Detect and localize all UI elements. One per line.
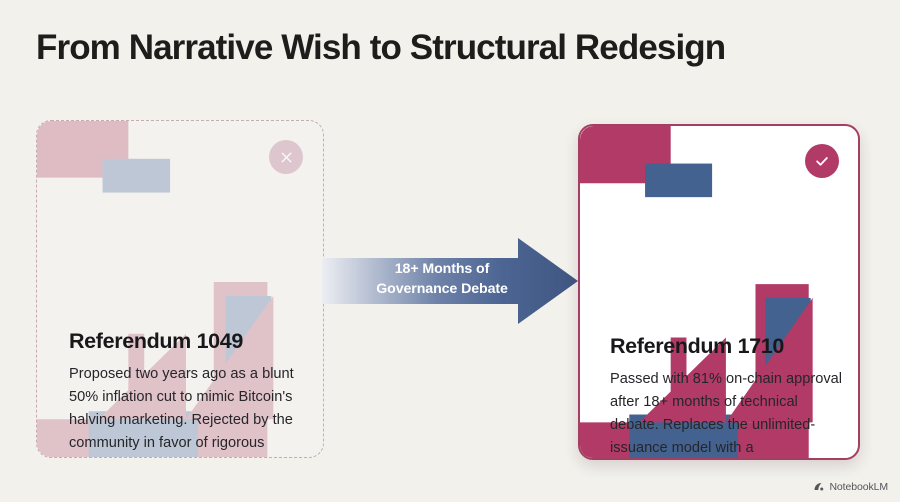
referendum-passed-card[interactable]: Referendum 1710 Passed with 81% on-chain… bbox=[578, 124, 860, 460]
referendum-rejected-body: Proposed two years ago as a blunt 50% in… bbox=[69, 363, 294, 458]
close-icon bbox=[278, 149, 295, 166]
page-title: From Narrative Wish to Structural Redesi… bbox=[36, 28, 856, 67]
referendum-passed-body: Passed with 81% on-chain approval after … bbox=[610, 368, 850, 460]
referendum-rejected-card[interactable]: Referendum 1049 Proposed two years ago a… bbox=[36, 120, 324, 458]
referendum-rejected-title: Referendum 1049 bbox=[69, 329, 243, 354]
notebooklm-watermark: NotebookLM bbox=[813, 481, 888, 493]
arrow-label-line-1: 18+ Months of bbox=[352, 259, 532, 279]
transition-arrow-label: 18+ Months of Governance Debate bbox=[352, 259, 532, 299]
status-badge-rejected bbox=[269, 140, 303, 174]
notebooklm-logo-icon bbox=[813, 481, 825, 493]
infographic-canvas: From Narrative Wish to Structural Redesi… bbox=[0, 0, 900, 502]
status-badge-passed bbox=[805, 144, 839, 178]
check-icon bbox=[813, 152, 831, 170]
referendum-passed-title: Referendum 1710 bbox=[610, 334, 784, 359]
notebooklm-watermark-label: NotebookLM bbox=[829, 481, 888, 493]
arrow-label-line-2: Governance Debate bbox=[352, 279, 532, 299]
